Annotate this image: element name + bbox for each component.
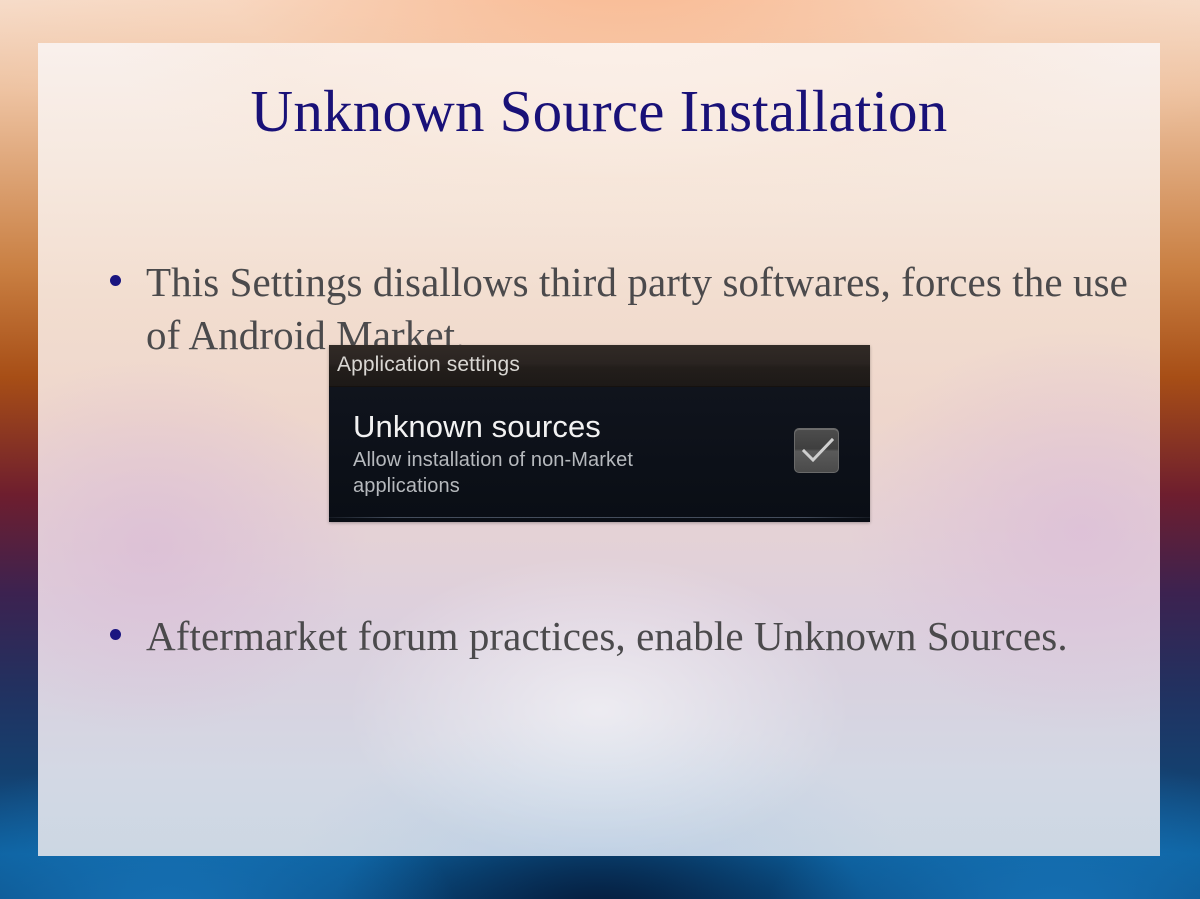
android-settings-screenshot: Application settings Unknown sources All… <box>329 345 870 522</box>
unknown-sources-row[interactable]: Unknown sources Allow installation of no… <box>329 387 870 516</box>
android-titlebar-label: Application settings <box>337 353 520 377</box>
bullet-text: Aftermarket forum practices, enable Unkn… <box>146 610 1068 663</box>
unknown-sources-subtitle: Allow installation of non-Market applica… <box>353 448 708 499</box>
bullet-dot-icon <box>110 275 121 286</box>
list-divider <box>329 517 870 518</box>
slide-canvas: Unknown Source Installation This Setting… <box>38 43 1160 856</box>
unknown-sources-text-block: Unknown sources Allow installation of no… <box>329 404 762 500</box>
unknown-sources-checkbox[interactable] <box>794 428 839 473</box>
android-titlebar: Application settings <box>329 345 870 387</box>
bullet-dot-icon <box>110 629 121 640</box>
unknown-sources-checkbox-cell <box>762 428 870 475</box>
list-item: Aftermarket forum practices, enable Unkn… <box>110 610 1110 663</box>
unknown-sources-title: Unknown sources <box>353 410 762 445</box>
checkmark-icon <box>802 438 834 466</box>
page-title: Unknown Source Installation <box>38 81 1160 141</box>
slide-decorative-frame: Unknown Source Installation This Setting… <box>0 0 1200 899</box>
android-settings-list: Unknown sources Allow installation of no… <box>329 387 870 522</box>
